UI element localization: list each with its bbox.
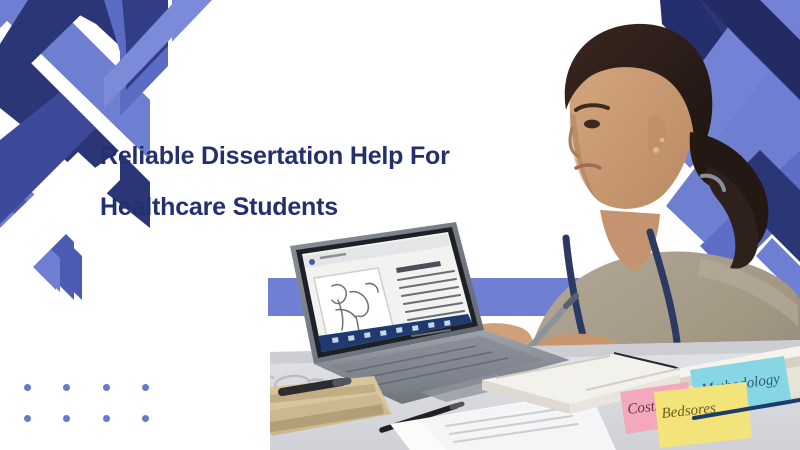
dot — [24, 415, 31, 422]
headline-line-1: Reliable Dissertation Help For — [100, 131, 520, 182]
dot — [24, 384, 31, 391]
dot-row — [24, 384, 177, 415]
dot — [103, 384, 110, 391]
page-title: Reliable Dissertation Help For Healthcar… — [100, 131, 520, 233]
dot — [63, 415, 70, 422]
dot-grid — [24, 384, 177, 446]
dot-row — [24, 415, 177, 446]
dot — [103, 415, 110, 422]
headline-line-2: Healthcare Students — [100, 182, 520, 233]
dot — [142, 415, 149, 422]
hero-banner: Methodology Costs Bedsores — [0, 0, 800, 450]
dot — [142, 384, 149, 391]
dot — [63, 384, 70, 391]
